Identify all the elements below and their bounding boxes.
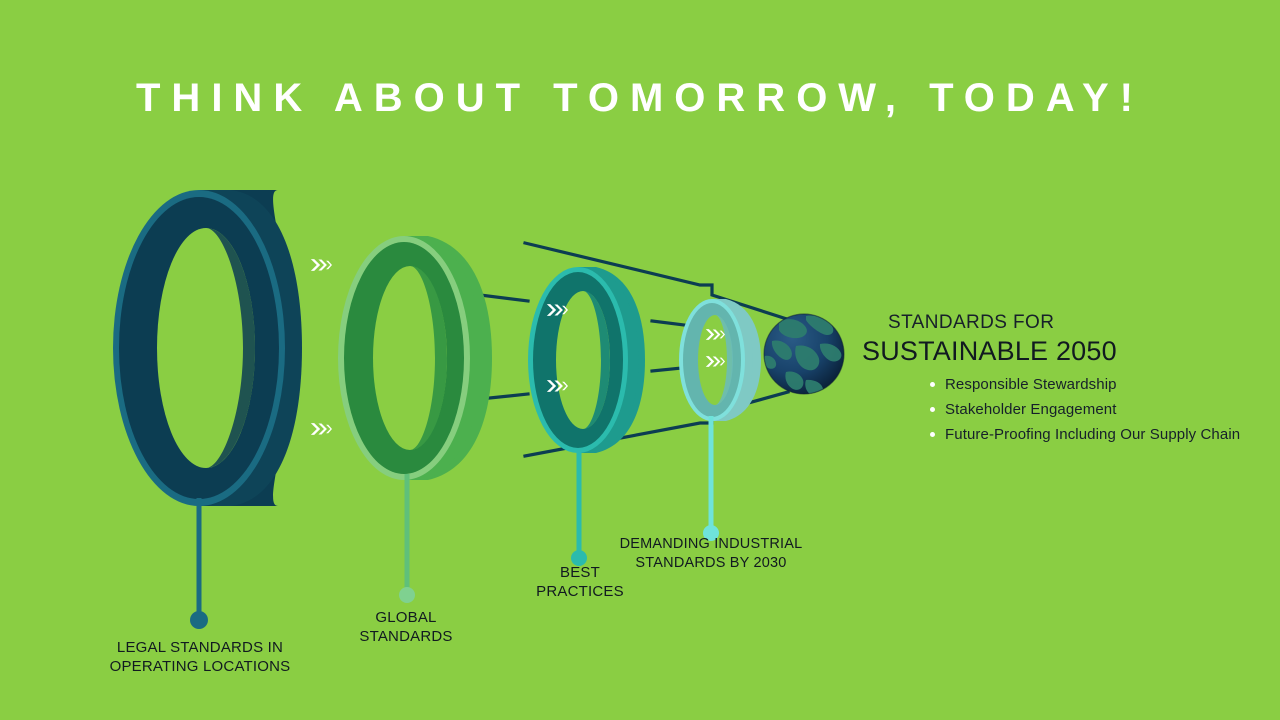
global-standards-ring[interactable] xyxy=(338,236,492,480)
bullet-dot-icon xyxy=(930,432,935,437)
bullet-label: Future-Proofing Including Our Supply Cha… xyxy=(945,426,1240,443)
bullet-label: Stakeholder Engagement xyxy=(945,401,1117,418)
double-chevron-icon xyxy=(311,423,332,435)
best-practices-ring[interactable] xyxy=(528,267,645,453)
bullet-dot-icon xyxy=(930,407,935,412)
panel-bullet-list: Responsible Stewardship Stakeholder Enga… xyxy=(930,376,1240,451)
double-chevron-icon xyxy=(311,259,332,271)
callout-line-2: STANDARDS xyxy=(318,627,494,646)
slide-canvas: THINK ABOUT TOMORROW, TODAY! xyxy=(0,0,1280,720)
callout-label-global-standards: GLOBAL STANDARDS xyxy=(318,608,494,646)
callout-dot-global xyxy=(399,587,415,603)
callout-line-2: PRACTICES xyxy=(515,582,645,601)
callout-line-1: LEGAL STANDARDS IN xyxy=(60,638,340,657)
legal-standards-ring[interactable] xyxy=(113,190,302,506)
callout-label-demanding-industrial: DEMANDING INDUSTRIAL STANDARDS BY 2030 xyxy=(600,535,822,572)
callout-line-1: DEMANDING INDUSTRIAL xyxy=(600,535,822,554)
callout-line-2: OPERATING LOCATIONS xyxy=(60,657,340,676)
panel-title: SUSTAINABLE 2050 xyxy=(862,336,1117,367)
demanding-standards-ring[interactable] xyxy=(679,299,761,421)
bullet-dot-icon xyxy=(930,382,935,387)
callout-line-2: STANDARDS BY 2030 xyxy=(600,554,822,573)
list-item: Stakeholder Engagement xyxy=(930,401,1240,418)
panel-eyebrow: STANDARDS FOR xyxy=(888,312,1054,334)
callout-label-legal-standards: LEGAL STANDARDS IN OPERATING LOCATIONS xyxy=(60,638,340,676)
bullet-label: Responsible Stewardship xyxy=(945,376,1117,393)
list-item: Responsible Stewardship xyxy=(930,376,1240,393)
list-item: Future-Proofing Including Our Supply Cha… xyxy=(930,426,1240,443)
callout-dot-legal xyxy=(190,611,208,629)
globe-icon xyxy=(764,314,844,396)
callout-line-1: GLOBAL xyxy=(318,608,494,627)
